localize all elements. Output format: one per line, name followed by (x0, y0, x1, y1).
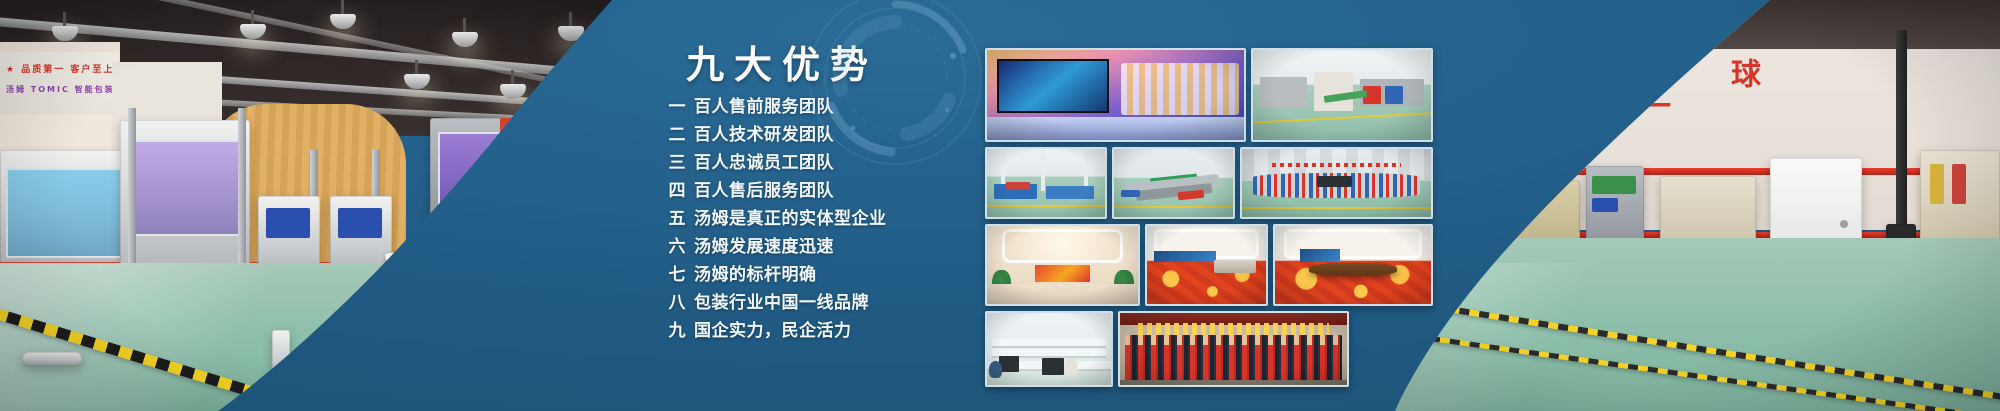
list-item: 二 百人技术研发团队 (660, 120, 990, 148)
list-item: 四 百人售后服务团队 (660, 176, 990, 204)
list-item-number: 四 (660, 176, 694, 201)
list-item: 五 汤姆是真正的实体型企业 (660, 204, 990, 232)
collage-row (985, 311, 1433, 387)
list-item-number: 三 (660, 148, 694, 173)
list-item-number: 八 (660, 288, 694, 313)
machining-workshop-photo (985, 147, 1107, 219)
list-item-label: 汤姆发展速度迅速 (694, 232, 834, 257)
company-photo-collage (985, 48, 1433, 356)
list-item: 九 国企实力，民企活力 (660, 316, 990, 344)
list-item-label: 百人技术研发团队 (694, 120, 834, 145)
list-item: 三 百人忠诚员工团队 (660, 148, 990, 176)
list-item-number: 七 (660, 260, 694, 285)
list-item-number: 五 (660, 204, 694, 229)
list-item: 一 百人售前服务团队 (660, 92, 990, 120)
list-item-label: 国企实力，民企活力 (694, 316, 852, 341)
list-item-label: 汤姆的标杆明确 (694, 260, 817, 285)
control-center-photo (1145, 224, 1267, 306)
list-item-number: 一 (660, 92, 694, 117)
list-item-number: 二 (660, 120, 694, 145)
company-lobby-photo (985, 224, 1140, 306)
list-item-label: 汤姆是真正的实体型企业 (694, 204, 887, 229)
team-group-photo (1118, 311, 1349, 387)
list-item-label: 百人售前服务团队 (694, 92, 834, 117)
list-item: 八 包装行业中国一线品牌 (660, 288, 990, 316)
collage-row (985, 48, 1433, 142)
collage-row (985, 224, 1433, 306)
company-advantages-banner: ★ 品质第一 客户至上 ★ 汤姆 TOMIC 智能包装 (0, 0, 2000, 411)
exhibition-hall-photo (985, 48, 1246, 142)
advantages-list: 一 百人售前服务团队 二 百人技术研发团队 三 百人忠诚员工团队 四 百人售后服… (660, 92, 990, 344)
page-title: 九大优势 (686, 34, 878, 89)
advantages-panel: 九大优势 一 百人售前服务团队 二 百人技术研发团队 三 百人忠诚员工团队 四 … (660, 0, 990, 411)
list-item-number: 九 (660, 316, 694, 341)
collage-row (985, 147, 1433, 219)
list-item-label: 包装行业中国一线品牌 (694, 288, 869, 313)
list-item-number: 六 (660, 232, 694, 257)
production-line-photo (1112, 147, 1234, 219)
open-office-photo (985, 311, 1113, 387)
list-item: 六 汤姆发展速度迅速 (660, 232, 990, 260)
list-item-label: 百人忠诚员工团队 (694, 148, 834, 173)
list-item: 七 汤姆的标杆明确 (660, 260, 990, 288)
parts-warehouse-photo (1240, 147, 1433, 219)
assembly-workshop-photo (1251, 48, 1433, 142)
conference-room-photo (1273, 224, 1433, 306)
list-item-label: 百人售后服务团队 (694, 176, 834, 201)
